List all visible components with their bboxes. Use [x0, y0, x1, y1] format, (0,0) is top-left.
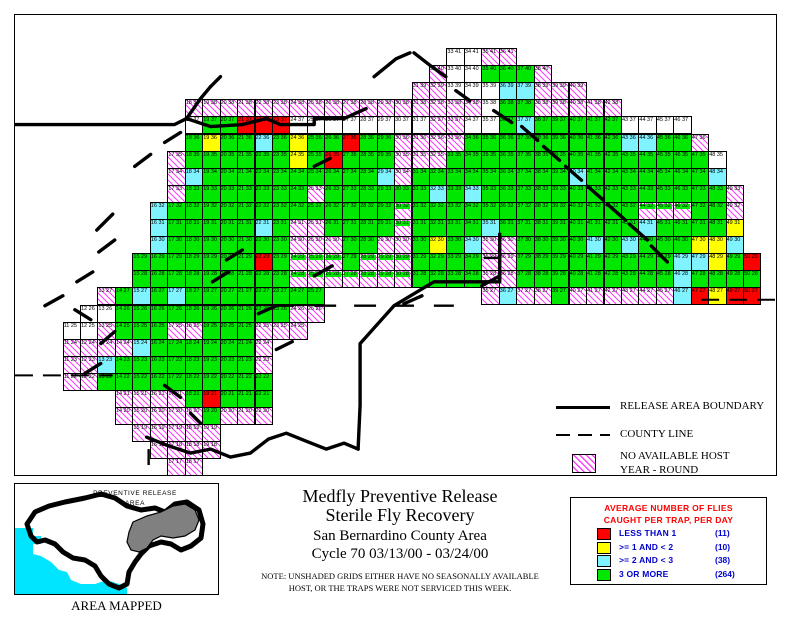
grid-cell-label: 23 34	[273, 170, 287, 176]
grid-cell: 39 36	[551, 134, 569, 152]
grid-cell-label: 29 29	[378, 255, 392, 261]
grid-cell: 25 29	[307, 253, 325, 271]
grid-cell: 27 36	[342, 134, 360, 152]
grid-cell-label: 41 34	[587, 170, 601, 176]
grid-cell-label: 16 24	[151, 341, 165, 347]
grid-cell: 33 35	[446, 151, 464, 169]
grid-cell-label: 36 34	[500, 170, 514, 176]
grid-cell-label: 19 29	[203, 255, 217, 261]
grid-cell: 20 38	[220, 99, 238, 117]
grid-cell-label: 22 29	[256, 255, 270, 261]
grid-cell-label: 15 29	[133, 255, 147, 261]
grid-cell: 47 34	[691, 168, 709, 186]
county-line-label: COUNTY LINE	[620, 428, 693, 440]
grid-cell: 40 33	[569, 185, 587, 203]
grid-cell-label: 34 37	[465, 118, 479, 124]
grid-cell-label: 37 29	[517, 255, 531, 261]
grid-cell: 33 40	[446, 65, 464, 83]
grid-cell: 26 33	[324, 185, 342, 203]
grid-cell: 28 30	[359, 236, 377, 254]
grid-cell: 18 29	[185, 253, 203, 271]
grid-cell-label: 17 35	[168, 153, 182, 159]
grid-cell: 36 35	[499, 151, 517, 169]
grid-cell-label: 17 20	[168, 409, 182, 415]
grid-cell-label: 40 28	[570, 272, 584, 278]
grid-cell-label: 16 32	[151, 204, 165, 210]
fly-legend-swatch-yellow	[597, 542, 611, 554]
grid-cell: 34 30	[464, 236, 482, 254]
grid-cell-label: 36 40	[500, 67, 514, 73]
grid-cell: 34 34	[464, 168, 482, 186]
grid-cell-label: 48 28	[709, 272, 723, 278]
grid-cell-label: 18 35	[186, 153, 200, 159]
grid-cell: 18 26	[185, 305, 203, 323]
grid-cell: 41 27	[586, 287, 604, 305]
grid-cell-label: 44 29	[639, 255, 653, 261]
grid-cell: 26 29	[324, 253, 342, 271]
grid-cell-label: 15 25	[133, 324, 147, 330]
grid-cell: 32 32	[429, 202, 447, 220]
grid-cell: 29 37	[377, 116, 395, 134]
grid-cell-label: 13 25	[98, 324, 112, 330]
grid-cell-label: 39 39	[552, 84, 566, 90]
grid-cell-label: 16 28	[151, 272, 165, 278]
grid-cell: 36 36	[499, 134, 517, 152]
grid-cell: 50 28	[743, 270, 761, 288]
grid-cell-label: 39 32	[552, 204, 566, 210]
grid-cell-label: 28 29	[360, 255, 374, 261]
grid-cell-label: 35 30	[482, 238, 496, 244]
grid-cell: 27 31	[342, 219, 360, 237]
grid-cell: 14 25	[115, 322, 133, 340]
grid-cell: 25 34	[307, 168, 325, 186]
grid-cell-label: 44 37	[639, 118, 653, 124]
grid-cell-label: 15 22	[133, 375, 147, 381]
grid-cell: 20 20	[220, 407, 238, 425]
grid-cell-label: 21 25	[238, 324, 252, 330]
grid-cell-label: 26 28	[325, 272, 339, 278]
grid-cell: 42 27	[604, 287, 622, 305]
grid-cell-label: 46 36	[674, 136, 688, 142]
grid-cell-label: 34 32	[465, 204, 479, 210]
grid-cell-label: 24 30	[290, 238, 304, 244]
grid-cell-label: 24 35	[290, 153, 304, 159]
grid-cell: 17 32	[167, 202, 185, 220]
grid-cell-label: 22 37	[256, 118, 270, 124]
grid-cell-label: 47 35	[692, 153, 706, 159]
grid-cell-label: 47 30	[692, 238, 706, 244]
grid-cell-label: 23 38	[273, 101, 287, 107]
grid-cell-label: 17 24	[168, 341, 182, 347]
page-title-line3: San Bernardino County Area	[228, 527, 572, 545]
grid-cell-label: 17 33	[168, 187, 182, 193]
grid-cell-label: 20 36	[221, 136, 235, 142]
grid-cell-label: 45 28	[657, 272, 671, 278]
grid-cell-label: 35 28	[482, 272, 496, 278]
grid-cell: 13 27	[97, 287, 115, 305]
grid-cell: 44 31	[638, 219, 656, 237]
grid-cell-label: 16 18	[151, 443, 165, 449]
grid-cell: 37 38	[516, 99, 534, 117]
grid-cell: 42 36	[604, 134, 622, 152]
grid-cell: 24 31	[289, 219, 307, 237]
grid-cell-label: 32 31	[430, 221, 444, 227]
grid-cell-label: 16 20	[151, 409, 165, 415]
grid-cell: 37 36	[516, 134, 534, 152]
map-key: RELEASE AREA BOUNDARY COUNTY LINE NO AVA…	[556, 398, 778, 478]
grid-cell: 36 38	[499, 99, 517, 117]
grid-cell-label: 43 37	[622, 118, 636, 124]
grid-cell-label: 15 21	[133, 392, 147, 398]
grid-cell: 44 36	[638, 134, 656, 152]
grid-cell-label: 25 30	[308, 238, 322, 244]
grid-cell-label: 16 31	[151, 221, 165, 227]
grid-cell-label: 34 39	[465, 84, 479, 90]
grid-cell: 50 29	[743, 253, 761, 271]
grid-cell-label: 28 35	[360, 153, 374, 159]
grid-cell: 27 28	[342, 270, 360, 288]
grid-cell: 43 28	[621, 270, 639, 288]
fly-legend-count-cyan: (38)	[715, 555, 730, 565]
grid-cell: 30 32	[394, 202, 412, 220]
grid-cell: 31 30	[412, 236, 430, 254]
grid-cell-label: 36 37	[500, 118, 514, 124]
grid-cell: 28 28	[359, 270, 377, 288]
grid-cell: 35 34	[481, 168, 499, 186]
grid-cell-label: 17 25	[168, 324, 182, 330]
grid-cell-label: 45 31	[657, 221, 671, 227]
grid-cell: 40 35	[569, 151, 587, 169]
grid-cell: 22 23	[255, 356, 273, 374]
grid-cell-label: 19 22	[203, 375, 217, 381]
inset-area-label-line1: PREVENTIVE RELEASE	[93, 490, 177, 497]
grid-cell-label: 26 31	[325, 221, 339, 227]
grid-cell: 19 37	[202, 116, 220, 134]
grid-cell-label: 23 37	[273, 118, 287, 124]
grid-cell: 14 24	[115, 339, 133, 357]
grid-cell: 29 30	[377, 236, 395, 254]
grid-cell: 23 25	[272, 322, 290, 340]
grid-cell-label: 32 35	[430, 153, 444, 159]
grid-cell: 43 32	[621, 202, 639, 220]
grid-cell-label: 48 31	[709, 221, 723, 227]
grid-cell: 26 31	[324, 219, 342, 237]
grid-cell-label: 14 26	[116, 307, 130, 313]
grid-cell-label: 19 24	[203, 341, 217, 347]
grid-cell-label: 34 29	[465, 255, 479, 261]
grid-cell: 22 29	[255, 253, 273, 271]
grid-cell: 35 30	[481, 236, 499, 254]
grid-cell-label: 37 32	[517, 204, 531, 210]
grid-cell-label: 28 34	[360, 170, 374, 176]
grid-cell: 20 37	[220, 116, 238, 134]
inset-area-label-line2: AREA	[125, 500, 145, 507]
grid-cell: 38 31	[534, 219, 552, 237]
grid-cell-label: 12 26	[81, 307, 95, 313]
grid-cell: 32 36	[429, 134, 447, 152]
grid-cell: 29 35	[377, 151, 395, 169]
grid-cell: 18 36	[185, 134, 203, 152]
grid-cell: 24 27	[289, 287, 307, 305]
grid-cell-label: 19 26	[203, 307, 217, 313]
grid-cell: 32 31	[429, 219, 447, 237]
grid-cell-label: 20 34	[221, 170, 235, 176]
grid-cell: 18 28	[185, 270, 203, 288]
grid-cell-label: 25 31	[308, 221, 322, 227]
grid-cell: 29 38	[377, 99, 395, 117]
grid-cell-label: 32 33	[430, 187, 444, 193]
grid-cell: 30 34	[394, 168, 412, 186]
grid-cell: 45 30	[656, 236, 674, 254]
grid-cell: 17 25	[167, 322, 185, 340]
grid-cell-label: 40 33	[570, 187, 584, 193]
grid-cell: 29 29	[377, 253, 395, 271]
grid-cell-label: 36 29	[500, 255, 514, 261]
grid-cell-label: 13 27	[98, 289, 112, 295]
grid-cell: 27 32	[342, 202, 360, 220]
grid-cell-label: 43 36	[622, 136, 636, 142]
grid-cell-label: 20 28	[221, 272, 235, 278]
grid-cell: 24 36	[289, 134, 307, 152]
grid-cell-label: 32 29	[430, 255, 444, 261]
grid-cell: 19 21	[202, 390, 220, 408]
grid-cell: 17 17	[167, 458, 185, 476]
grid-cell: 19 32	[202, 202, 220, 220]
grid-cell: 25 30	[307, 236, 325, 254]
grid-cell-label: 17 19	[168, 426, 182, 432]
grid-cell: 47 35	[691, 151, 709, 169]
grid-cell-label: 18 29	[186, 255, 200, 261]
grid-cell-label: 28 30	[360, 238, 374, 244]
grid-cell: 22 20	[255, 407, 273, 425]
grid-cell-label: 32 38	[430, 101, 444, 107]
grid-cell-label: 17 31	[168, 221, 182, 227]
grid-cell: 26 38	[324, 99, 342, 117]
grid-cell-label: 20 27	[221, 289, 235, 295]
grid-cell: 38 27	[534, 287, 552, 305]
grid-cell: 11 25	[63, 322, 81, 340]
grid-cell-label: 27 34	[343, 170, 357, 176]
grid-cell-label: 20 20	[221, 409, 235, 415]
grid-cell-label: 18 28	[186, 272, 200, 278]
grid-cell: 31 34	[412, 168, 430, 186]
grid-cell-label: 35 31	[482, 221, 496, 227]
grid-cell-label: 44 30	[639, 238, 653, 244]
grid-cell-label: 44 31	[639, 221, 653, 227]
grid-cell: 25 32	[307, 202, 325, 220]
grid-cell-label: 43 27	[622, 289, 636, 295]
grid-cell-label: 45 32	[657, 204, 671, 210]
grid-cell: 50 27	[743, 287, 761, 305]
grid-cell: 22 22	[255, 373, 273, 391]
grid-cell-label: 42 35	[605, 153, 619, 159]
grid-cell: 49 31	[726, 219, 744, 237]
grid-cell-label: 20 35	[221, 153, 235, 159]
map-note-line2: HOST, OR THE TRAPS WERE NOT SERVICED THI…	[289, 583, 512, 593]
grid-cell-label: 39 35	[552, 153, 566, 159]
grid-cell-label: 40 36	[570, 136, 584, 142]
grid-cell: 18 23	[185, 356, 203, 374]
grid-cell-label: 18 38	[186, 101, 200, 107]
fly-legend-swatch-red	[597, 528, 611, 540]
grid-cell-label: 24 25	[290, 324, 304, 330]
grid-cell: 36 39	[499, 82, 517, 100]
grid-cell-label: 20 32	[221, 204, 235, 210]
grid-cell: 28 38	[359, 99, 377, 117]
grid-cell-label: 18 24	[186, 341, 200, 347]
grid-cell: 41 35	[586, 151, 604, 169]
grid-cell-label: 18 17	[186, 460, 200, 466]
fly-count-legend: AVERAGE NUMBER OF FLIES CAUGHT PER TRAP,…	[570, 497, 767, 585]
grid-cell-label: 22 36	[256, 136, 270, 142]
grid-cell: 17 31	[167, 219, 185, 237]
grid-cell: 34 39	[464, 82, 482, 100]
grid-cell: 11 24	[63, 339, 81, 357]
grid-cell-label: 12 24	[81, 341, 95, 347]
grid-cell-label: 23 29	[273, 255, 287, 261]
grid-cell: 24 25	[289, 322, 307, 340]
grid-cell: 19 31	[202, 219, 220, 237]
grid-cell-label: 43 32	[622, 204, 636, 210]
grid-cell: 17 29	[167, 253, 185, 271]
grid-cell-label: 20 37	[221, 118, 235, 124]
grid-cell: 25 38	[307, 99, 325, 117]
grid-cell: 42 33	[604, 185, 622, 203]
grid-cell-label: 27 38	[343, 101, 357, 107]
grid-cell-label: 24 27	[290, 289, 304, 295]
grid-cell-label: 29 36	[378, 136, 392, 142]
grid-cell-label: 49 28	[727, 272, 741, 278]
county-line-symbol	[556, 434, 610, 436]
grid-cell: 21 38	[237, 99, 255, 117]
grid-cell-label: 43 33	[622, 187, 636, 193]
grid-cell: 25 26	[307, 305, 325, 323]
grid-cell-label: 22 34	[256, 170, 270, 176]
grid-cell-label: 17 17	[168, 460, 182, 466]
grid-cell-label: 20 31	[221, 221, 235, 227]
grid-cell-label: 14 27	[116, 289, 130, 295]
grid-cell-label: 20 22	[221, 375, 235, 381]
grid-cell: 42 35	[604, 151, 622, 169]
grid-cell: 48 30	[708, 236, 726, 254]
grid-cell-label: 42 29	[605, 255, 619, 261]
grid-cell: 15 23	[132, 356, 150, 374]
grid-cell: 19 27	[202, 287, 220, 305]
grid-cell-label: 25 33	[308, 187, 322, 193]
grid-cell: 19 23	[202, 356, 220, 374]
grid-cell: 46 27	[673, 287, 691, 305]
grid-cell: 42 34	[604, 168, 622, 186]
grid-cell-label: 15 19	[133, 426, 147, 432]
grid-cell-label: 16 27	[151, 289, 165, 295]
grid-cell: 28 34	[359, 168, 377, 186]
grid-cell-label: 19 34	[203, 170, 217, 176]
grid-cell-label: 39 29	[552, 255, 566, 261]
grid-cell: 19 19	[202, 424, 220, 442]
grid-cell-label: 27 30	[343, 238, 357, 244]
grid-cell: 27 37	[342, 116, 360, 134]
fly-legend-label-yellow: >= 1 AND < 2	[619, 542, 673, 552]
grid-cell: 18 25	[185, 322, 203, 340]
grid-cell: 29 34	[377, 168, 395, 186]
grid-cell-label: 34 38	[465, 101, 479, 107]
grid-cell: 32 29	[429, 253, 447, 271]
grid-cell: 36 32	[499, 202, 517, 220]
grid-cell: 22 37	[255, 116, 273, 134]
grid-cell-label: 48 29	[709, 255, 723, 261]
grid-cell: 35 29	[481, 253, 499, 271]
grid-cell-label: 21 23	[238, 358, 252, 364]
grid-cell: 24 30	[289, 236, 307, 254]
grid-cell-label: 23 33	[273, 187, 287, 193]
grid-cell-label: 26 37	[325, 118, 339, 124]
grid-cell-label: 42 28	[605, 272, 619, 278]
grid-cell-label: 23 36	[273, 136, 287, 142]
grid-cell: 46 36	[673, 134, 691, 152]
grid-cell: 18 32	[185, 202, 203, 220]
grid-cell-label: 47 36	[692, 136, 706, 142]
grid-cell: 23 29	[272, 253, 290, 271]
grid-cell: 41 36	[586, 134, 604, 152]
grid-cell: 29 36	[377, 134, 395, 152]
fly-legend-header-line1: AVERAGE NUMBER OF FLIES	[604, 503, 733, 513]
grid-cell: 11 22	[63, 373, 81, 391]
grid-cell: 25 36	[307, 134, 325, 152]
grid-cell-label: 46 33	[674, 187, 688, 193]
grid-cell: 39 32	[551, 202, 569, 220]
grid-cell: 31 37	[412, 116, 430, 134]
grid-cell: 18 33	[185, 185, 203, 203]
grid-cell: 13 22	[97, 373, 115, 391]
grid-cell: 26 37	[324, 116, 342, 134]
grid-cell-label: 13 26	[98, 307, 112, 313]
grid-cell: 24 26	[289, 305, 307, 323]
grid-cell: 25 28	[307, 270, 325, 288]
grid-cell-label: 43 28	[622, 272, 636, 278]
grid-cell: 37 27	[516, 287, 534, 305]
grid-cell: 37 28	[516, 270, 534, 288]
grid-cell: 13 23	[97, 356, 115, 374]
grid-cell: 17 22	[167, 373, 185, 391]
grid-cell-label: 39 31	[552, 221, 566, 227]
grid-cell: 40 37	[569, 116, 587, 134]
grid-cell: 37 33	[516, 185, 534, 203]
grid-cell-label: 41 31	[587, 221, 601, 227]
grid-cell: 16 25	[150, 322, 168, 340]
grid-cell-label: 21 37	[238, 118, 252, 124]
grid-cell: 30 30	[394, 236, 412, 254]
grid-cell-label: 30 30	[395, 238, 409, 244]
grid-cell-label: 38 30	[535, 238, 549, 244]
grid-cell: 19 28	[202, 270, 220, 288]
grid-cell-label: 48 30	[709, 238, 723, 244]
grid-cell-label: 33 37	[447, 118, 461, 124]
grid-cell: 32 37	[429, 116, 447, 134]
grid-cell: 48 28	[708, 270, 726, 288]
grid-cell-label: 18 18	[186, 443, 200, 449]
grid-cell: 48 34	[708, 168, 726, 186]
grid-cell-label: 38 33	[535, 187, 549, 193]
grid-cell-label: 37 33	[517, 187, 531, 193]
grid-cell: 45 32	[656, 202, 674, 220]
grid-cell-label: 45 27	[657, 289, 671, 295]
grid-cell: 41 30	[586, 236, 604, 254]
grid-cell: 21 28	[237, 270, 255, 288]
grid-cell-label: 39 30	[552, 238, 566, 244]
grid-cell-label: 19 20	[203, 409, 217, 415]
grid-cell: 28 32	[359, 202, 377, 220]
grid-cell-label: 38 35	[535, 153, 549, 159]
